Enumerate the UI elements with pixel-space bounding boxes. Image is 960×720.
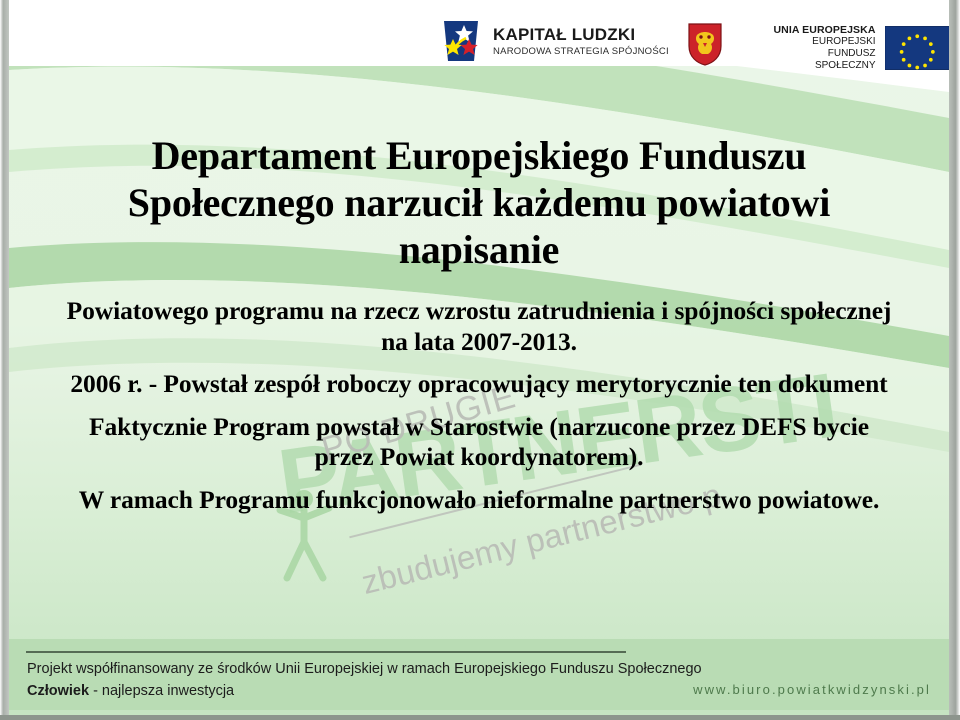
body-text-block: Powiatowego programu na rzecz wzrostu za… bbox=[64, 296, 894, 528]
logo-unia-europejska: UNIA EUROPEJSKA EUROPEJSKI FUNDUSZ SPOŁE… bbox=[767, 24, 949, 72]
footer-divider bbox=[26, 651, 626, 653]
logo-row: KAPITAŁ LUDZKI NARODOWA STRATEGIA SPÓJNO… bbox=[9, 0, 949, 96]
footer-website-url: www.biuro.powiatkwidzynski.pl bbox=[693, 682, 931, 697]
body-paragraph: 2006 r. - Powstał zespół roboczy opracow… bbox=[64, 369, 894, 400]
logo-ue-line2: EUROPEJSKI bbox=[767, 36, 876, 48]
logo-ue-line3: FUNDUSZ SPOŁECZNY bbox=[767, 48, 876, 72]
body-paragraph: W ramach Programu funkcjonowało nieforma… bbox=[64, 485, 894, 516]
slide-footer: Projekt współfinansowany ze środków Unii… bbox=[9, 639, 949, 710]
slide-frame-left bbox=[0, 0, 9, 720]
footer-funding-text: Projekt współfinansowany ze środków Unii… bbox=[27, 661, 702, 677]
logo-kapital-ludzki: KAPITAŁ LUDZKI NARODOWA STRATEGIA SPÓJNO… bbox=[440, 19, 669, 63]
footer-slogan-rest: - najlepsza inwestycja bbox=[89, 683, 234, 699]
slide-frame-right bbox=[949, 0, 960, 720]
footer-slogan-bold: Człowiek bbox=[27, 683, 89, 699]
presentation-slide: PARTNERSTI PO DRUGIE zbudujemy partnerst… bbox=[0, 0, 960, 720]
slide-frame-bottom bbox=[0, 715, 960, 720]
logo-coat-of-arms bbox=[687, 22, 723, 71]
logo-ue-line1: UNIA EUROPEJSKA bbox=[767, 24, 876, 36]
powiat-kwidzynski-coat-of-arms bbox=[687, 22, 723, 66]
page-title: Departament Europejskiego Funduszu Społe… bbox=[69, 133, 889, 273]
body-paragraph: Faktycznie Program powstał w Starostwie … bbox=[64, 412, 894, 473]
european-union-flag bbox=[885, 26, 949, 70]
footer-slogan: Człowiek - najlepsza inwestycja bbox=[27, 683, 234, 699]
logo-kl-subtitle: NARODOWA STRATEGIA SPÓJNOŚCI bbox=[493, 47, 669, 57]
slide-canvas: PARTNERSTI PO DRUGIE zbudujemy partnerst… bbox=[9, 0, 949, 715]
kapital-ludzki-stars-emblem bbox=[440, 19, 482, 63]
body-paragraph: Powiatowego programu na rzecz wzrostu za… bbox=[64, 296, 894, 357]
logo-kl-title: KAPITAŁ LUDZKI bbox=[493, 26, 669, 43]
